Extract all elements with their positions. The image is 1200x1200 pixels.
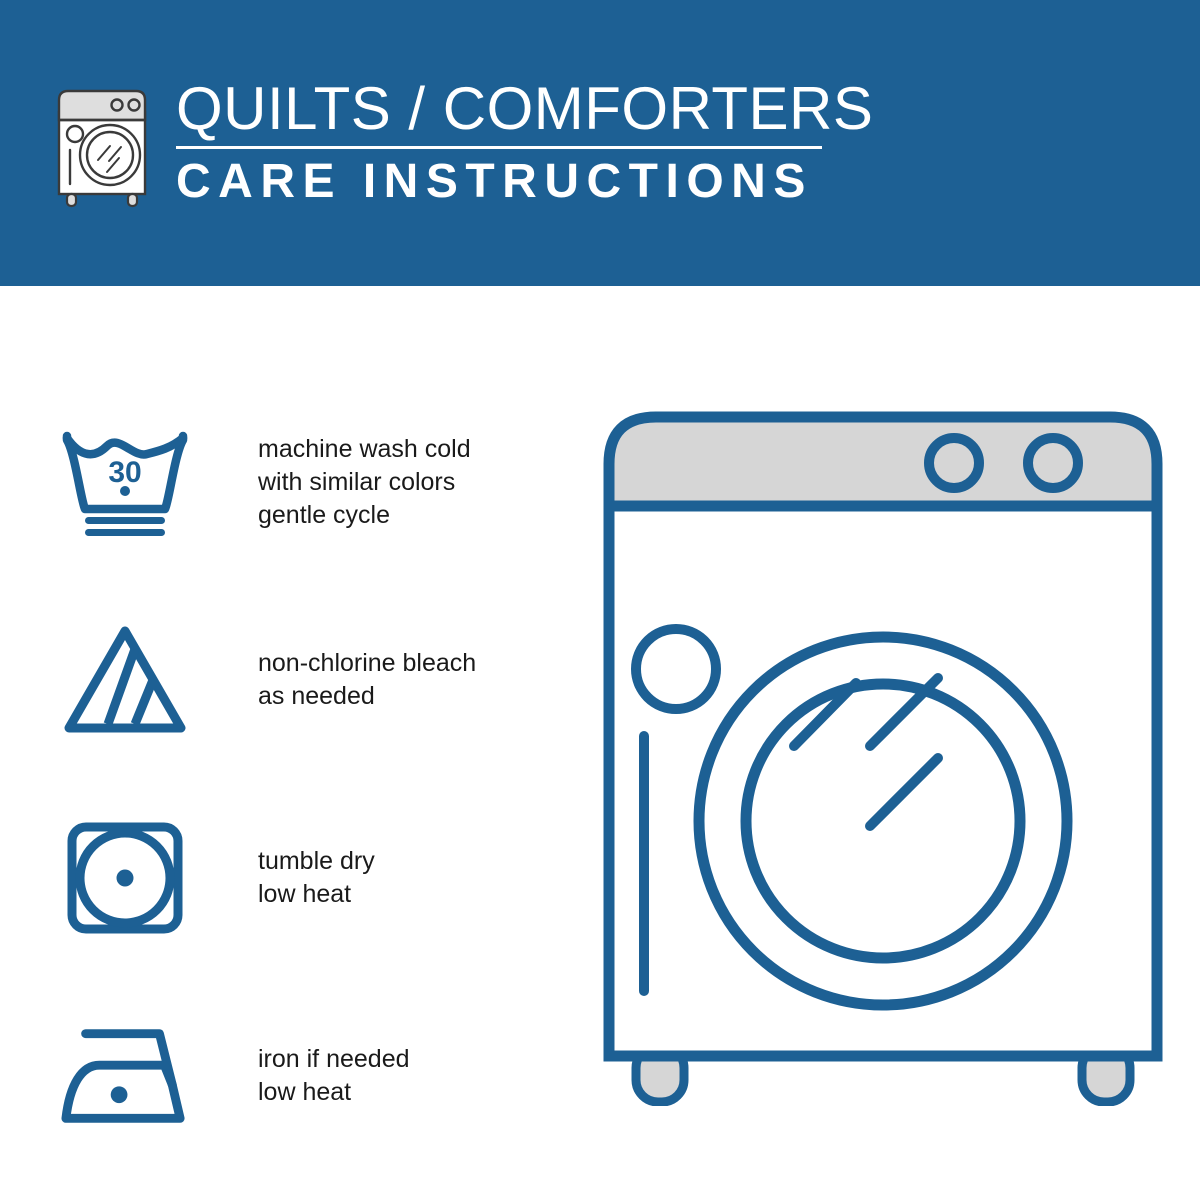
list-item: 30 machine wash cold with similar colors… xyxy=(60,412,530,552)
front-load-washing-machine-illustration xyxy=(598,406,1168,1106)
wash-temperature-label: 30 xyxy=(108,456,141,489)
washer-illustration-container xyxy=(598,406,1168,1106)
page-content: 30 machine wash cold with similar colors… xyxy=(0,286,1200,1200)
care-label-line: non-chlorine bleach xyxy=(258,647,476,680)
care-label-line: gentle cycle xyxy=(258,499,471,532)
list-item: tumble dry low heat xyxy=(60,808,530,948)
tumble-dry-low-heat-icon xyxy=(66,822,184,934)
care-symbol-bleach xyxy=(60,615,190,745)
washing-machine-icon xyxy=(50,82,154,210)
care-label-line: tumble dry xyxy=(258,845,375,878)
list-item: non-chlorine bleach as needed xyxy=(60,610,530,750)
care-symbol-tumble-dry xyxy=(60,813,190,943)
header-content: QUILTS / COMFORTERS CARE INSTRUCTIONS xyxy=(50,78,873,210)
iron-low-heat-icon xyxy=(60,1023,190,1129)
bleach-triangle-non-chlorine-icon xyxy=(63,625,187,735)
washer-cabinet xyxy=(609,501,1157,1056)
header-title-block: QUILTS / COMFORTERS CARE INSTRUCTIONS xyxy=(176,78,873,209)
care-label-line: machine wash cold xyxy=(258,433,471,466)
wash-tub-30-gentle-icon: 30 xyxy=(61,426,189,538)
care-symbol-wash: 30 xyxy=(60,417,190,547)
care-instruction-list: 30 machine wash cold with similar colors… xyxy=(60,412,530,1146)
care-label-tumble-dry: tumble dry low heat xyxy=(258,845,375,911)
care-symbol-iron xyxy=(60,1011,190,1141)
care-label-bleach: non-chlorine bleach as needed xyxy=(258,647,476,713)
list-item: iron if needed low heat xyxy=(60,1006,530,1146)
care-label-line: with similar colors xyxy=(258,466,471,499)
care-label-line: low heat xyxy=(258,878,375,911)
page-title: QUILTS / COMFORTERS xyxy=(176,78,873,140)
page-header: QUILTS / COMFORTERS CARE INSTRUCTIONS xyxy=(0,0,1200,286)
care-label-line: as needed xyxy=(258,680,476,713)
care-label-line: iron if needed xyxy=(258,1043,410,1076)
care-label-line: low heat xyxy=(258,1076,410,1109)
title-divider xyxy=(176,146,822,149)
care-label-iron: iron if needed low heat xyxy=(258,1043,410,1109)
care-label-wash: machine wash cold with similar colors ge… xyxy=(258,433,471,532)
page-subtitle: CARE INSTRUCTIONS xyxy=(176,155,873,209)
